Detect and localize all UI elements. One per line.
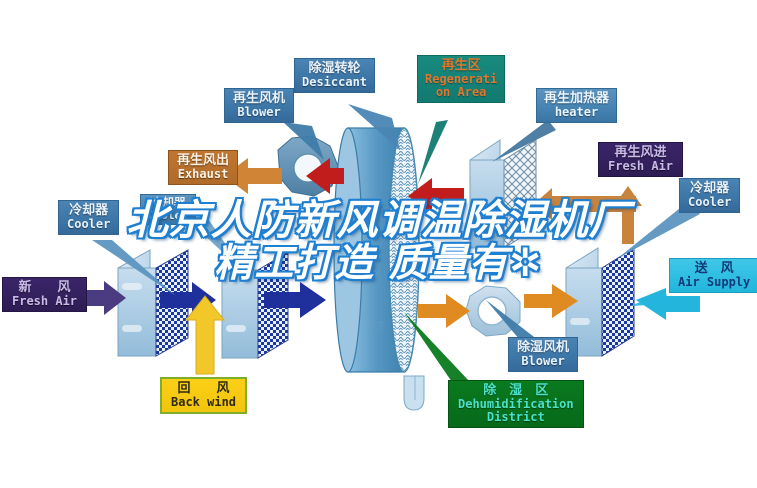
label-cooler-left-2-cn: 冷却器 — [148, 197, 188, 210]
arrow-regen-riser — [614, 186, 642, 244]
label-regen-area[interactable]: 再生区 Regenerati on Area — [417, 55, 505, 103]
label-cooler-right-en: Cooler — [688, 196, 731, 209]
label-dehum-blower-en: Blower — [517, 355, 569, 368]
label-regen-blower-en: Blower — [233, 106, 285, 119]
label-fresh-air-cn: 新 风 — [12, 281, 77, 295]
diagram-canvas: XT — [0, 0, 757, 488]
label-cooler-right[interactable]: 冷却器 Cooler — [679, 178, 740, 213]
label-exhaust-cn: 再生风出 — [177, 154, 229, 168]
label-cooler-left-1-en: Cooler — [67, 218, 110, 231]
label-dehum-district-cn: 除 湿 区 — [458, 384, 574, 398]
drain-pan — [404, 376, 424, 410]
label-exhaust-en: Exhaust — [177, 168, 229, 181]
label-exhaust[interactable]: 再生风出 Exhaust — [168, 150, 238, 185]
label-cooler-left-2[interactable]: 冷却器 Cooler — [140, 194, 196, 225]
label-fresh-air-en: Fresh Air — [12, 295, 77, 308]
label-dehum-district-en2: District — [458, 411, 574, 424]
label-desiccant-cn: 除湿转轮 — [302, 62, 367, 76]
label-cooler-left-2-en: Cooler — [148, 210, 188, 222]
label-regen-heater-cn: 再生加热器 — [544, 92, 609, 106]
label-air-supply-en: Air Supply — [678, 276, 750, 289]
label-regen-fresh-air[interactable]: 再生风进 Fresh Air — [598, 142, 683, 177]
label-regen-heater[interactable]: 再生加热器 heater — [536, 88, 617, 123]
label-cooler-left-1-cn: 冷却器 — [67, 204, 110, 218]
arrow-dehum-out-1 — [418, 294, 470, 328]
label-back-wind[interactable]: 回 风 Back wind — [160, 377, 247, 414]
schematic-illustration: XT — [0, 0, 757, 488]
label-dehum-blower[interactable]: 除湿风机 Blower — [508, 337, 578, 372]
label-regen-blower[interactable]: 再生风机 Blower — [224, 88, 294, 123]
label-back-wind-en: Back wind — [171, 396, 236, 409]
label-desiccant-en: Desiccant — [302, 76, 367, 89]
label-regen-fresh-air-cn: 再生风进 — [608, 146, 673, 160]
label-regen-heater-en: heater — [544, 106, 609, 119]
label-regen-area-en2: on Area — [425, 86, 497, 99]
label-desiccant[interactable]: 除湿转轮 Desiccant — [294, 58, 375, 93]
label-regen-fresh-air-en: Fresh Air — [608, 160, 673, 173]
svg-text:XT: XT — [370, 320, 384, 333]
label-fresh-air[interactable]: 新 风 Fresh Air — [2, 277, 87, 312]
label-back-wind-cn: 回 风 — [171, 382, 236, 396]
label-regen-blower-cn: 再生风机 — [233, 92, 285, 106]
label-cooler-right-cn: 冷却器 — [688, 182, 731, 196]
label-cooler-left-1[interactable]: 冷却器 Cooler — [58, 200, 119, 235]
label-air-supply[interactable]: 送 风 Air Supply — [669, 258, 757, 293]
label-dehum-blower-cn: 除湿风机 — [517, 341, 569, 355]
desiccant-rotor: XT — [334, 128, 419, 372]
label-dehum-district[interactable]: 除 湿 区 Dehumidification District — [448, 380, 584, 428]
label-regen-area-cn: 再生区 — [425, 59, 497, 73]
label-air-supply-cn: 送 风 — [678, 262, 750, 276]
